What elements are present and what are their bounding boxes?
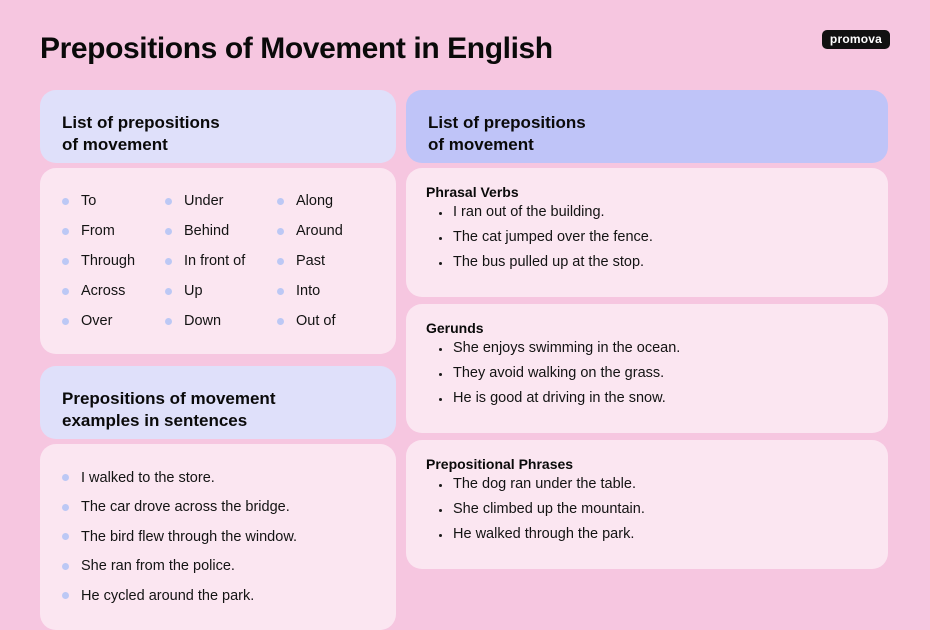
bullet-dot-icon [62,288,69,295]
section-sentence: She enjoys swimming in the ocean. [453,341,680,356]
section-sentence: He walked through the park. [453,527,634,542]
bullet-dot-icon [277,258,284,265]
list-item: Out of [277,306,376,336]
preposition-label: Across [81,283,125,299]
examples-list-card: I walked to the store. The car drove acr… [40,444,396,630]
right-card-header-line1: List of prepositions [428,112,866,134]
section-title: Phrasal Verbs [426,184,866,200]
bullet-dot-icon [439,237,442,240]
section-sentence: The cat jumped over the fence. [453,230,653,245]
list-item: Along [277,186,376,216]
list-item: Under [165,186,277,216]
list-item: The bird flew through the window. [62,522,376,552]
list-item: He walked through the park. [426,527,866,552]
left-column: List of prepositions of movement To Unde… [40,90,396,630]
prepositions-list-card: To Under Along From Behind Around Throug… [40,168,396,354]
prepositions-grid: To Under Along From Behind Around Throug… [40,168,396,354]
bullet-dot-icon [439,373,442,376]
bullet-dot-icon [62,563,69,570]
list-item: Across [62,276,165,306]
prepositions-card-header: List of prepositions of movement [40,90,396,163]
preposition-label: From [81,223,115,239]
gerunds-section: Gerunds She enjoys swimming in the ocean… [406,304,888,433]
list-item: Behind [165,216,277,246]
page-title: Prepositions of Movement in English [40,32,553,66]
bullet-dot-icon [62,318,69,325]
phrasal-verbs-section: Phrasal Verbs I ran out of the building.… [406,168,888,297]
preposition-label: Over [81,313,112,329]
section-sentence: The dog ran under the table. [453,477,636,492]
section-sentence: They avoid walking on the grass. [453,366,664,381]
list-item: Into [277,276,376,306]
list-item: He cycled around the park. [62,581,376,611]
prepositions-card-header-line1: List of prepositions [62,112,374,134]
section-sentence: He is good at driving in the snow. [453,391,666,406]
preposition-label: Into [296,283,320,299]
bullet-dot-icon [277,288,284,295]
prepositional-phrases-section: Prepositional Phrases The dog ran under … [406,440,888,569]
bullet-dot-icon [277,318,284,325]
example-sentence: The bird flew through the window. [81,529,297,545]
bullet-dot-icon [439,212,442,215]
list-item: From [62,216,165,246]
bullet-dot-icon [439,534,442,537]
list-item: She enjoys swimming in the ocean. [426,341,866,366]
list-item: Through [62,246,165,276]
section-sentence: She climbed up the mountain. [453,502,645,517]
list-item: Down [165,306,277,336]
preposition-label: To [81,193,96,209]
list-item: The bus pulled up at the stop. [426,255,866,280]
list-item: Past [277,246,376,276]
preposition-label: Behind [184,223,229,239]
preposition-label: Up [184,283,203,299]
example-sentence: She ran from the police. [81,558,235,574]
bullet-dot-icon [277,228,284,235]
preposition-label: Under [184,193,224,209]
section-sentence: The bus pulled up at the stop. [453,255,644,270]
right-column: List of prepositions of movement Phrasal… [406,90,888,569]
list-item: I ran out of the building. [426,205,866,230]
bullet-dot-icon [62,258,69,265]
bullet-dot-icon [439,398,442,401]
bullet-dot-icon [439,484,442,487]
promova-logo: promova [822,30,890,49]
examples-card-header: Prepositions of movement examples in sen… [40,366,396,439]
list-item: The dog ran under the table. [426,477,866,502]
prepositions-card-header-line2: of movement [62,134,374,156]
preposition-label: Through [81,253,135,269]
list-item: The cat jumped over the fence. [426,230,866,255]
bullet-dot-icon [439,262,442,265]
examples-card-header-line1: Prepositions of movement [62,388,374,410]
bullet-dot-icon [62,504,69,511]
section-title: Prepositional Phrases [426,456,866,472]
list-item: She climbed up the mountain. [426,502,866,527]
preposition-label: Down [184,313,221,329]
list-item: He is good at driving in the snow. [426,391,866,416]
section-title: Gerunds [426,320,866,336]
examples-card-header-line2: examples in sentences [62,410,374,432]
list-item: Up [165,276,277,306]
list-item: To [62,186,165,216]
preposition-label: Past [296,253,325,269]
example-sentence: He cycled around the park. [81,588,254,604]
right-card-header-line2: of movement [428,134,866,156]
bullet-dot-icon [62,474,69,481]
preposition-label: Along [296,193,333,209]
list-item: They avoid walking on the grass. [426,366,866,391]
infographic-page: Prepositions of Movement in English prom… [0,0,930,620]
section-sentence: I ran out of the building. [453,205,605,220]
list-item: I walked to the store. [62,463,376,493]
bullet-dot-icon [62,592,69,599]
right-card-header: List of prepositions of movement [406,90,888,163]
bullet-dot-icon [165,318,172,325]
bullet-dot-icon [62,533,69,540]
list-item: She ran from the police. [62,552,376,582]
example-sentence: I walked to the store. [81,470,215,486]
preposition-label: Out of [296,313,336,329]
bullet-dot-icon [439,509,442,512]
bullet-dot-icon [165,288,172,295]
bullet-dot-icon [165,258,172,265]
bullet-dot-icon [439,348,442,351]
example-sentence: The car drove across the bridge. [81,499,290,515]
examples-list: I walked to the store. The car drove acr… [40,444,396,630]
bullet-dot-icon [165,198,172,205]
preposition-label: In front of [184,253,245,269]
bullet-dot-icon [62,228,69,235]
preposition-label: Around [296,223,343,239]
list-item: Over [62,306,165,336]
bullet-dot-icon [277,198,284,205]
list-item: In front of [165,246,277,276]
bullet-dot-icon [62,198,69,205]
list-item: Around [277,216,376,246]
bullet-dot-icon [165,228,172,235]
list-item: The car drove across the bridge. [62,493,376,523]
